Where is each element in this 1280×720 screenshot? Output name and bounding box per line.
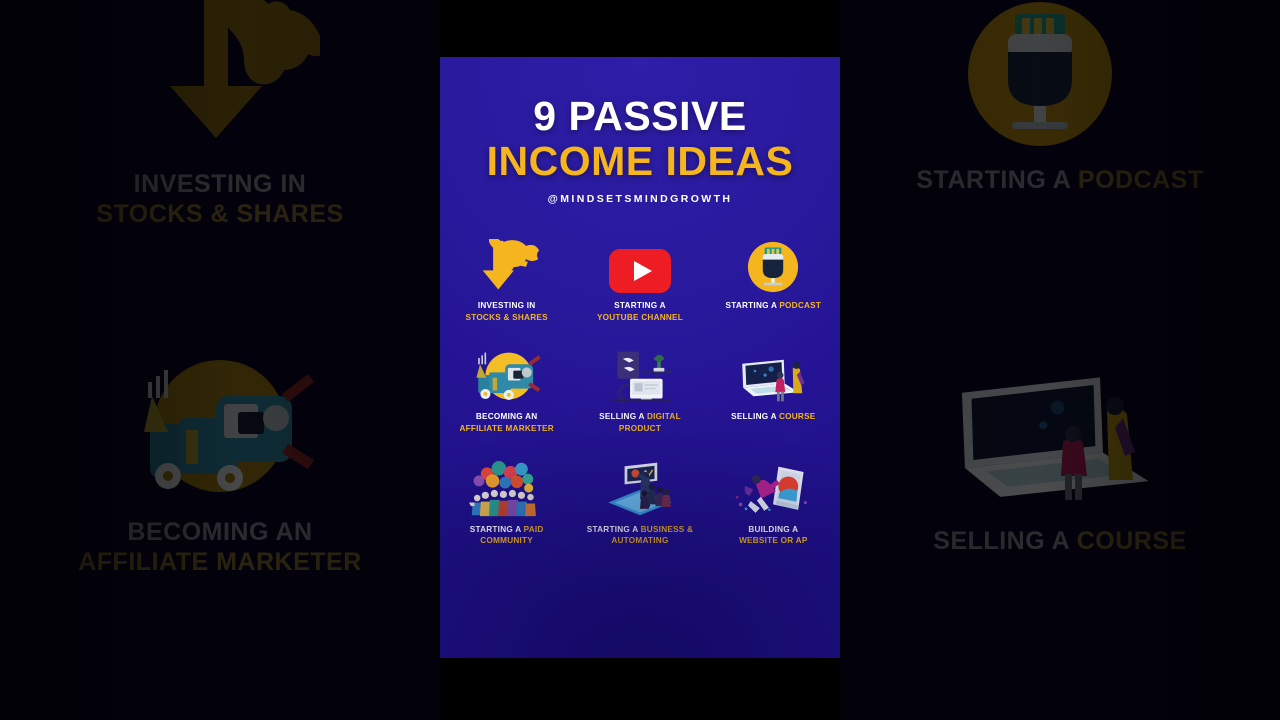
online-course-laptop-icon — [735, 344, 811, 404]
idea-card-starting-a-podcast[interactable]: STARTING A PODCAST — [707, 237, 840, 324]
video-frame: INVESTING IN STOCKS & SHARES — [0, 0, 1280, 720]
bear-market-arrow-icon — [120, 0, 320, 160]
title-line-2: INCOME IDEAS — [440, 141, 840, 182]
website-app-launch-icon — [735, 457, 811, 517]
idea-label: INVESTING IN STOCKS & SHARES — [446, 300, 568, 324]
ideas-grid: INVESTING IN STOCKS & SHARES STARTING A … — [440, 237, 840, 547]
backdrop-label: BECOMING AN AFFILIATE MARKETER — [0, 518, 440, 577]
title-line-1: 9 PASSIVE — [440, 96, 840, 137]
affiliate-megaphone-icon — [120, 348, 320, 508]
idea-label: STARTING A YOUTUBE CHANNEL — [579, 300, 701, 324]
backdrop-label: STARTING A PODCAST — [840, 166, 1280, 196]
affiliate-megaphone-icon — [471, 344, 543, 404]
social-handle: @MINDSETSMINDGROWTH — [440, 193, 840, 205]
idea-label: STARTING A PAID COMMUNITY — [446, 524, 568, 548]
idea-card-selling-a-course[interactable]: SELLING A COURSE — [707, 344, 840, 435]
podcast-microphone-icon — [747, 237, 799, 293]
backdrop-label: INVESTING IN STOCKS & SHARES — [0, 170, 440, 229]
idea-label: SELLING A COURSE — [712, 411, 834, 423]
backdrop-right: STARTING A PODCAST — [840, 0, 1280, 720]
bear-market-arrow-icon — [474, 237, 540, 293]
main-poster: 9 PASSIVE INCOME IDEAS @MINDSETSMINDGROW… — [440, 57, 840, 658]
backdrop-left: INVESTING IN STOCKS & SHARES — [0, 0, 440, 720]
online-course-laptop-icon — [935, 352, 1165, 517]
backdrop-label: SELLING A COURSE — [840, 527, 1280, 557]
letterbox-bottom — [440, 658, 840, 720]
idea-card-starting-a-youtube-channel[interactable]: STARTING A YOUTUBE CHANNEL — [573, 237, 706, 324]
backdrop-item: STARTING A PODCAST — [840, 0, 1280, 196]
idea-card-building-a-website-or-app[interactable]: BUILDING A WEBSITE OR AP — [707, 457, 840, 548]
idea-label: BUILDING A WEBSITE OR AP — [712, 524, 834, 548]
ideas-row: BECOMING AN AFFILIATE MARKETER — [440, 344, 840, 435]
idea-label: BECOMING AN AFFILIATE MARKETER — [446, 411, 568, 435]
podcast-microphone-icon — [960, 0, 1120, 156]
paid-community-people-icon — [469, 457, 545, 517]
poster-header: 9 PASSIVE INCOME IDEAS @MINDSETSMINDGROW… — [440, 96, 840, 205]
ideas-row: INVESTING IN STOCKS & SHARES STARTING A … — [440, 237, 840, 324]
idea-card-selling-a-digital-product[interactable]: SELLING A DIGITAL PRODUCT — [573, 344, 706, 435]
idea-card-becoming-an-affiliate-marketer[interactable]: BECOMING AN AFFILIATE MARKETER — [440, 344, 573, 435]
ideas-row: STARTING A PAID COMMUNITY — [440, 457, 840, 548]
digital-product-desktop-icon — [603, 344, 677, 404]
business-automation-presentation-icon — [601, 457, 679, 517]
backdrop-item: SELLING A COURSE — [840, 352, 1280, 557]
letterbox-top — [440, 0, 840, 57]
idea-label: SELLING A DIGITAL PRODUCT — [579, 411, 701, 435]
idea-card-starting-a-business-automating[interactable]: STARTING A BUSINESS & AUTOMATING — [573, 457, 706, 548]
backdrop-item: BECOMING AN AFFILIATE MARKETER — [0, 348, 440, 577]
idea-card-starting-a-paid-community[interactable]: STARTING A PAID COMMUNITY — [440, 457, 573, 548]
idea-label: STARTING A BUSINESS & AUTOMATING — [579, 524, 701, 548]
idea-card-investing-in-stocks-shares[interactable]: INVESTING IN STOCKS & SHARES — [440, 237, 573, 324]
backdrop-item: INVESTING IN STOCKS & SHARES — [0, 0, 440, 229]
youtube-play-icon — [609, 237, 671, 293]
idea-label: STARTING A PODCAST — [712, 300, 834, 312]
